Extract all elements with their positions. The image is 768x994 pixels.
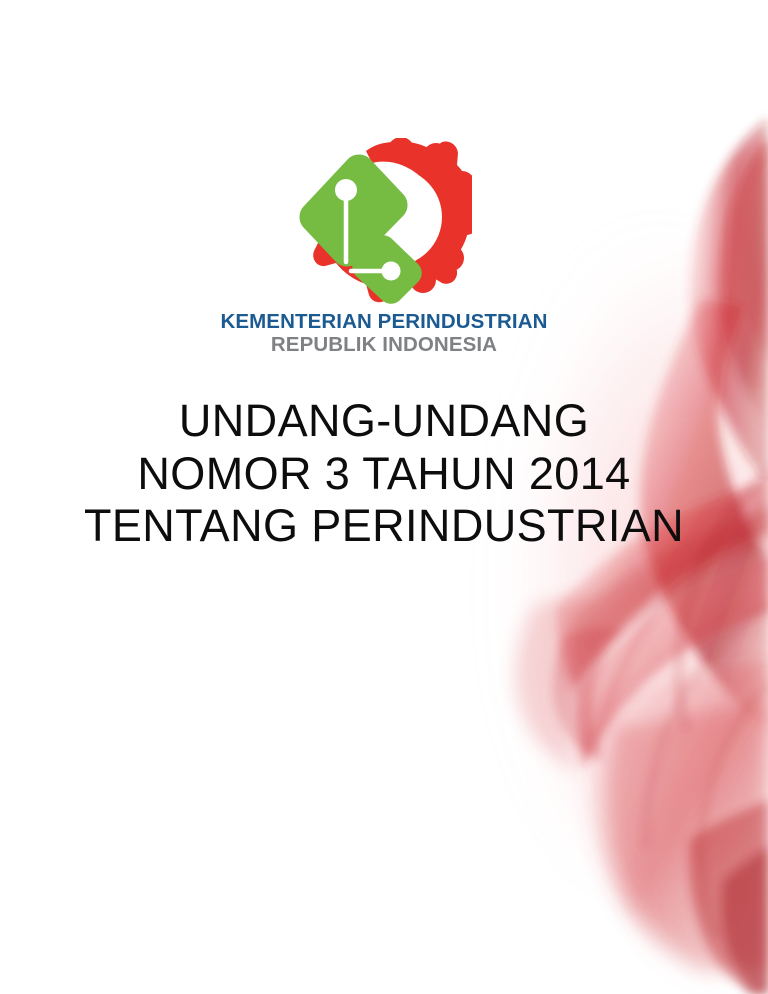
title-line-1: UNDANG-UNDANG (0, 395, 768, 448)
document-title: UNDANG-UNDANG NOMOR 3 TAHUN 2014 TENTANG… (0, 395, 768, 553)
country-name: REPUBLIK INDONESIA (220, 335, 547, 356)
title-line-2: NOMOR 3 TAHUN 2014 (0, 448, 768, 501)
ministry-logo-text: KEMENTERIAN PERINDUSTRIAN REPUBLIK INDON… (220, 312, 547, 355)
title-line-3: TENTANG PERINDUSTRIAN (0, 500, 768, 553)
ministry-name: KEMENTERIAN PERINDUSTRIAN (220, 312, 547, 333)
cover-page: KEMENTERIAN PERINDUSTRIAN REPUBLIK INDON… (0, 0, 768, 994)
kementerian-perindustrian-emblem-icon (296, 138, 472, 306)
ministry-logo: KEMENTERIAN PERINDUSTRIAN REPUBLIK INDON… (0, 138, 768, 355)
